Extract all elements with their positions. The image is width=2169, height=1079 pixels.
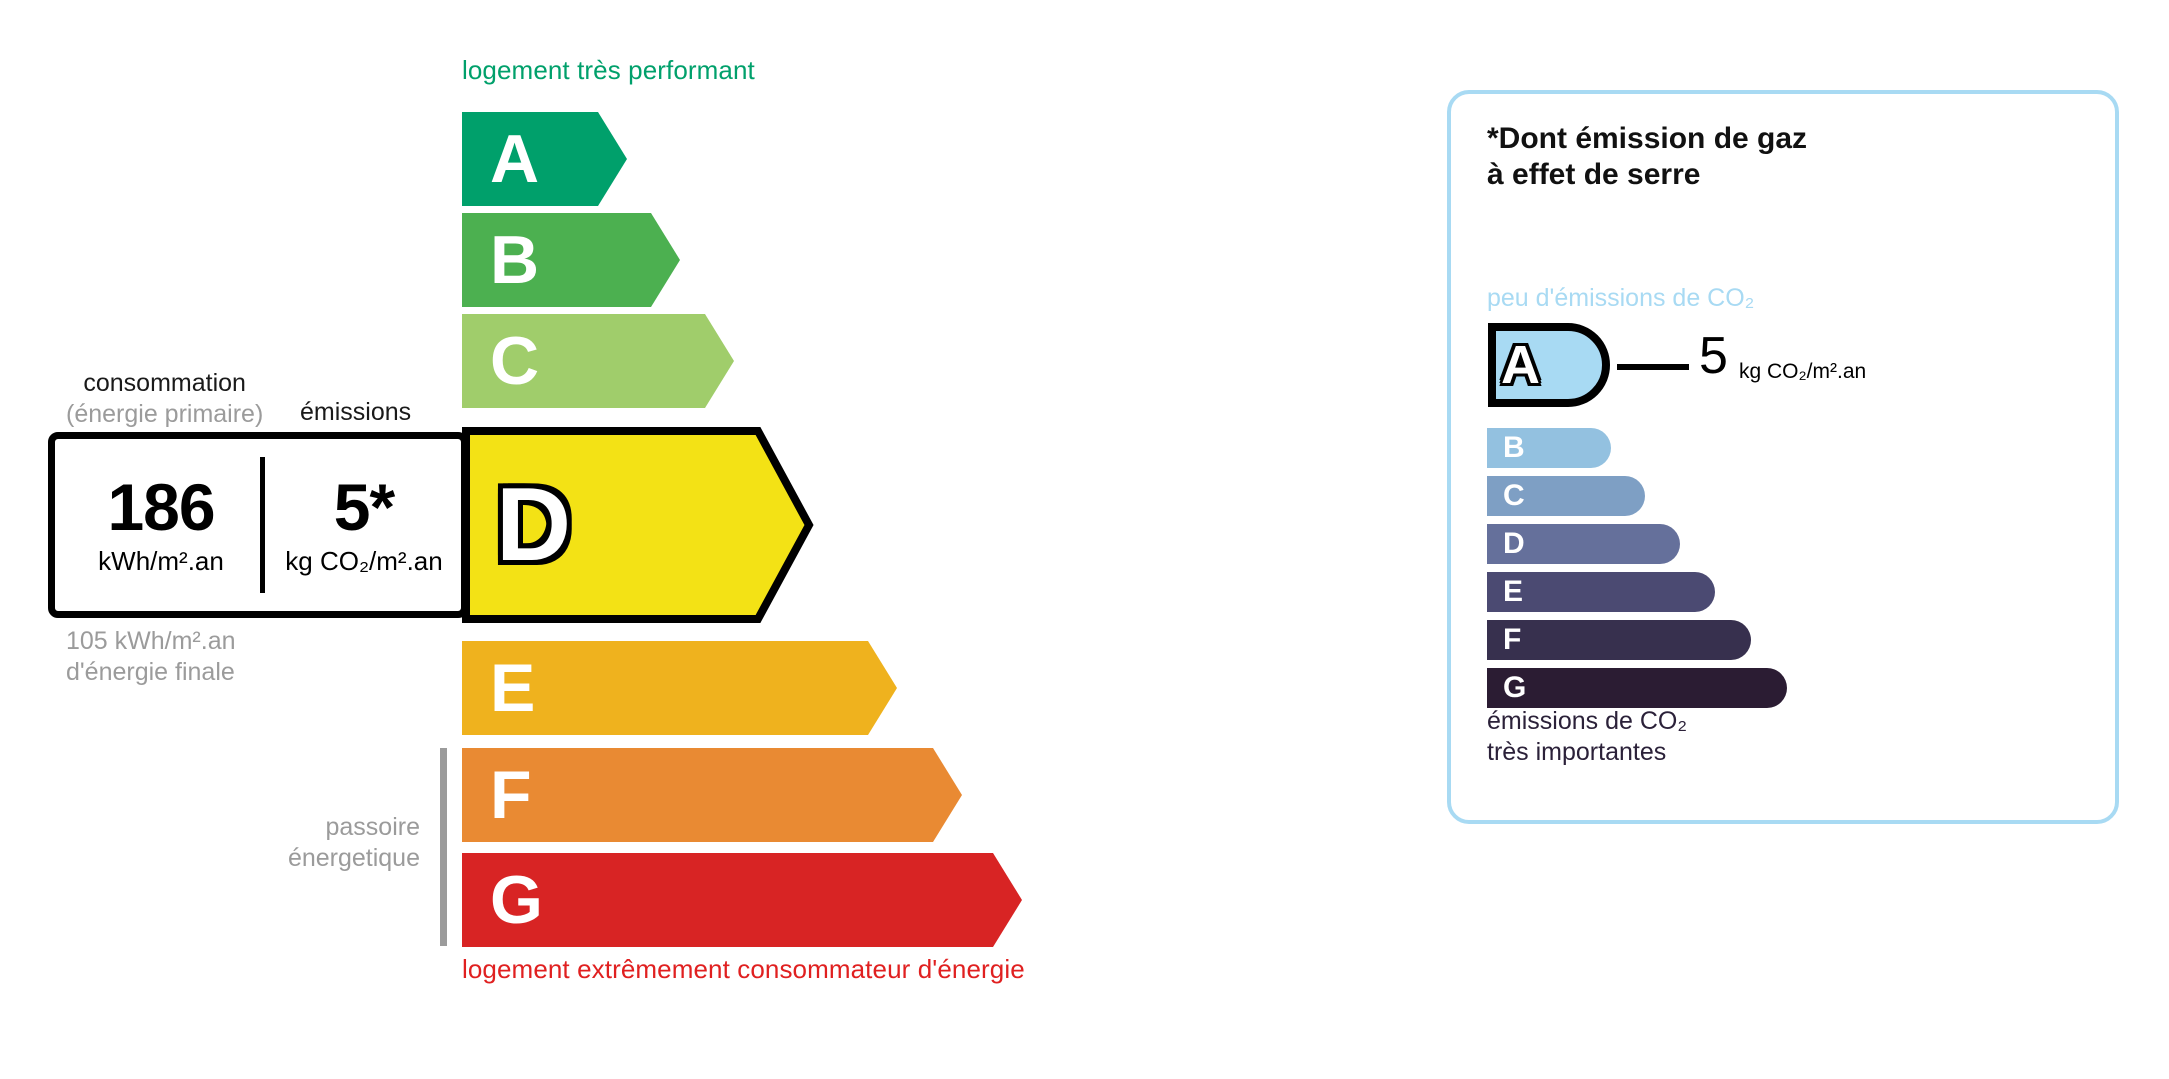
energy-class-letter-g: G xyxy=(490,866,543,934)
energy-class-arrow-a: A xyxy=(462,112,627,206)
energy-class-letter-b: B xyxy=(490,226,539,294)
arrow-shape-f xyxy=(462,748,962,842)
co2-current-class-letter: A xyxy=(1501,338,1540,392)
co2-bar-letter-d: D xyxy=(1503,529,1525,559)
energy-class-arrow-b: B xyxy=(462,213,680,307)
consumption-label: consommation (énergie primaire) xyxy=(66,368,263,429)
emissions-value: 5* xyxy=(334,474,394,540)
energy-class-arrow-e: E xyxy=(462,641,897,735)
energy-class-letter-f: F xyxy=(490,761,532,829)
co2-bar-letter-b: B xyxy=(1503,433,1525,463)
energy-class-arrow-c: C xyxy=(462,314,734,408)
co2-bar-row-c: C xyxy=(1487,476,1645,516)
co2-bar-letter-g: G xyxy=(1503,673,1526,703)
co2-bar-d: D xyxy=(1487,524,1680,564)
co2-connector-line xyxy=(1617,364,1689,370)
energy-class-arrow-g: G xyxy=(462,853,1022,947)
passoire-energetique-label: passoire énergetique xyxy=(190,812,420,875)
co2-current-class-row: A 5 kg CO₂/m².an xyxy=(1487,322,2087,408)
co2-panel-title: *Dont émission de gaz à effet de serre xyxy=(1487,121,1807,193)
arrow-shape-a xyxy=(462,112,627,206)
co2-current-class-badge: A xyxy=(1487,322,1611,408)
value-box-divider xyxy=(260,457,265,593)
co2-bar-row-e: E xyxy=(1487,572,1715,612)
energy-scale-top-caption: logement très performant xyxy=(462,55,755,86)
co2-bar-g: G xyxy=(1487,668,1787,708)
consumption-value-cell: 186 kWh/m².an xyxy=(55,439,267,611)
consumption-unit: kWh/m².an xyxy=(98,546,224,577)
arrow-shape-g xyxy=(462,853,1022,947)
emissions-label: émissions xyxy=(300,397,411,428)
co2-bar-row-g: G xyxy=(1487,668,1787,708)
co2-bottom-caption: émissions de CO₂ très importantes xyxy=(1487,706,1687,769)
co2-bar-letter-f: F xyxy=(1503,625,1521,655)
co2-bar-letter-c: C xyxy=(1503,481,1525,511)
final-energy-note: 105 kWh/m².an d'énergie finale xyxy=(66,626,236,689)
energy-class-letter-c: C xyxy=(490,327,539,395)
energy-class-letter-d: D xyxy=(496,473,571,577)
co2-emissions-panel: *Dont émission de gaz à effet de serre p… xyxy=(1447,90,2119,824)
co2-current-unit: kg CO₂/m².an xyxy=(1739,360,1866,384)
co2-bar-f: F xyxy=(1487,620,1751,660)
emissions-value-cell: 5* kg CO₂/m².an xyxy=(267,439,461,611)
energy-class-letter-a: A xyxy=(490,125,539,193)
co2-bar-row-d: D xyxy=(1487,524,1680,564)
emissions-unit: kg CO₂/m².an xyxy=(285,546,442,577)
co2-bar-row-b: B xyxy=(1487,428,1611,468)
consumption-value: 186 xyxy=(107,474,214,540)
co2-bar-letter-e: E xyxy=(1503,577,1523,607)
co2-top-caption: peu d'émissions de CO₂ xyxy=(1487,284,1754,313)
value-box: 186 kWh/m².an 5* kg CO₂/m².an xyxy=(48,432,468,618)
energy-consumption-panel: logement très performant A B xyxy=(0,0,1400,1079)
passoire-energetique-marker-bar xyxy=(440,748,447,946)
energy-class-arrow-f: F xyxy=(462,748,962,842)
co2-bar-row-f: F xyxy=(1487,620,1751,660)
consumption-label-main: consommation xyxy=(83,369,246,397)
co2-bar-e: E xyxy=(1487,572,1715,612)
energy-class-letter-e: E xyxy=(490,654,535,722)
co2-current-value: 5 xyxy=(1699,330,1728,382)
co2-bar-b: B xyxy=(1487,428,1611,468)
co2-bar-c: C xyxy=(1487,476,1645,516)
energy-scale-bottom-caption: logement extrêmement consommateur d'éner… xyxy=(462,954,1025,985)
consumption-label-sub: (énergie primaire) xyxy=(66,399,263,430)
dpe-energy-label: logement très performant A B xyxy=(0,0,2169,1079)
energy-class-arrow-d-current: D xyxy=(462,427,814,623)
